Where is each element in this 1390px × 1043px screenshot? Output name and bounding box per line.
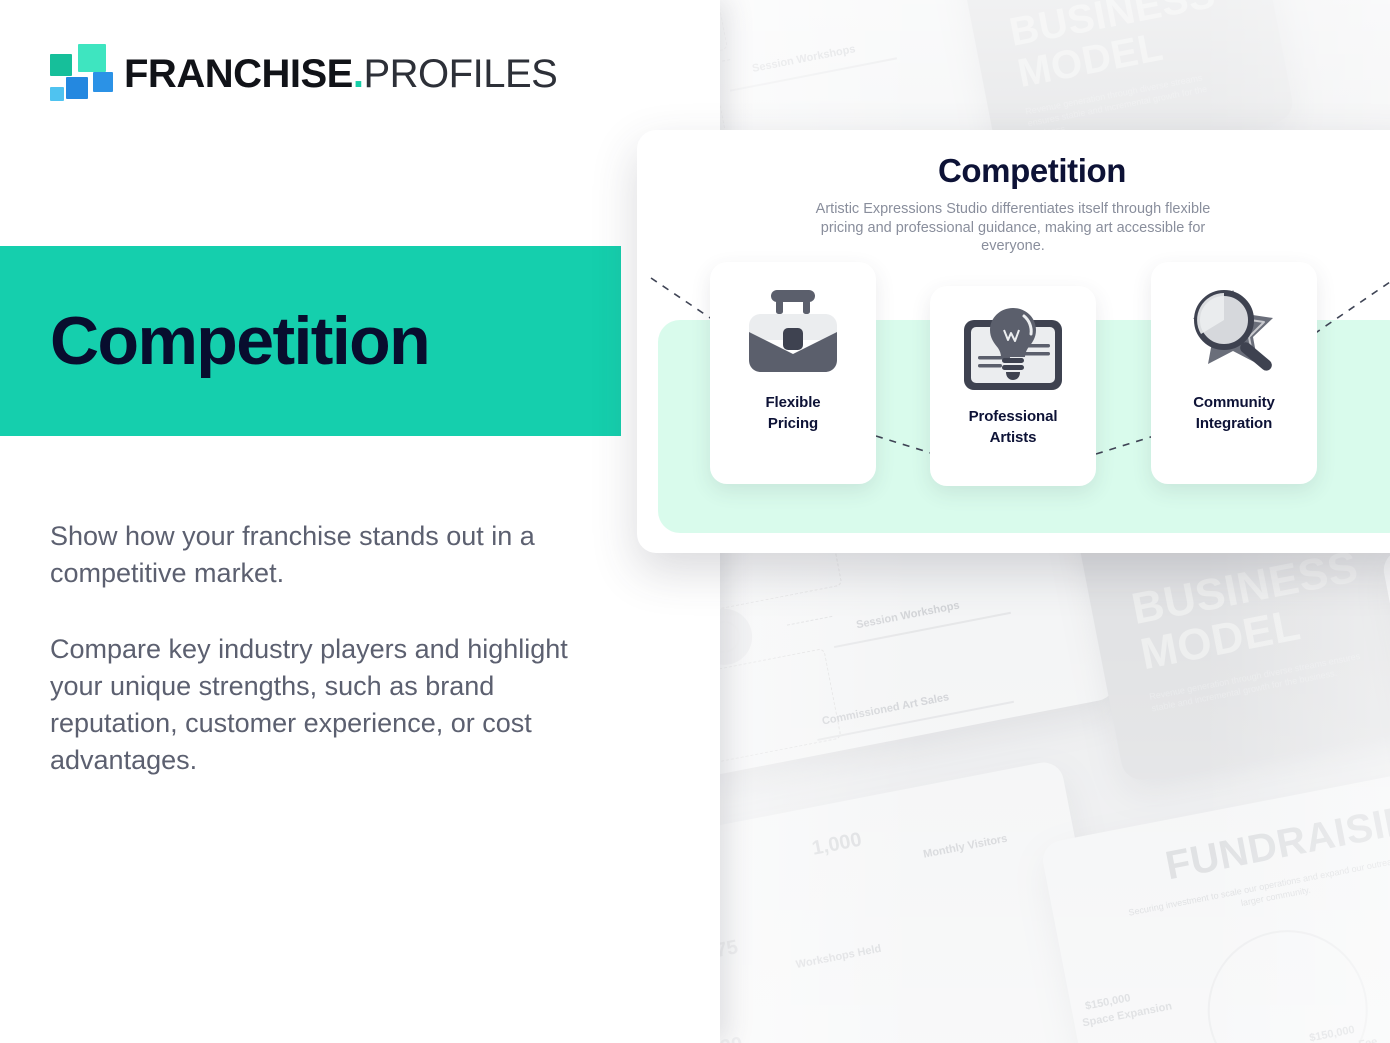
description-paragraph-2: Compare key industry players and highlig… (50, 631, 620, 779)
slide-preview-screen: Drop-In Fees Session Workshops Commissio… (0, 0, 1390, 1043)
description-paragraph-1: Show how your franchise stands out in a … (50, 518, 620, 592)
left-content-panel: FRANCHISE.PROFILES Competition Show how … (0, 0, 720, 1043)
brand-wordmark: FRANCHISE.PROFILES (124, 54, 557, 94)
feature-label-3: CommunityIntegration (1193, 392, 1275, 434)
feature-label-1: FlexiblePricing (765, 392, 820, 434)
description-block: Show how your franchise stands out in a … (50, 518, 620, 779)
feature-card-flexible-pricing[interactable]: FlexiblePricing (710, 262, 876, 484)
section-title-banner: Competition (0, 246, 621, 436)
feature-card-community-integration[interactable]: CommunityIntegration (1151, 262, 1317, 484)
briefcase-icon (737, 282, 849, 386)
lightbulb-board-icon (954, 300, 1072, 400)
preview-title: Competition (637, 152, 1390, 190)
logo-squares-icon (48, 44, 110, 104)
preview-subtitle: Artistic Expressions Studio differentiat… (813, 200, 1213, 256)
brand-logo: FRANCHISE.PROFILES (48, 42, 557, 106)
feature-label-2: ProfessionalArtists (969, 406, 1058, 448)
feature-card-professional-artists[interactable]: ProfessionalArtists (930, 286, 1096, 486)
magnifier-star-icon (1177, 282, 1291, 386)
brand-name-thin: PROFILES (363, 52, 557, 96)
brand-name-bold: FRANCHISE (124, 52, 353, 96)
page-title: Competition (50, 307, 429, 375)
brand-name-dot: . (353, 52, 364, 96)
